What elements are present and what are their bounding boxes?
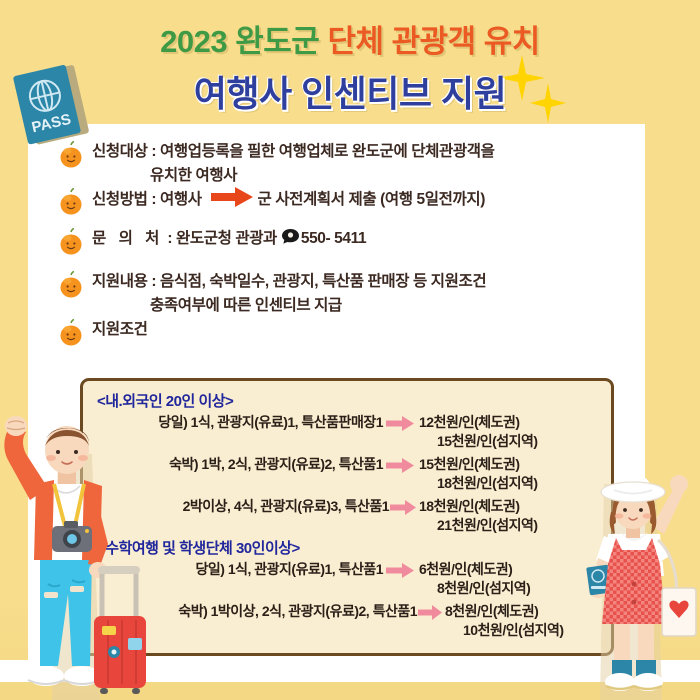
info-sep: : xyxy=(147,273,160,290)
condition-row: 당일) 1식, 관광지(유료)1, 특산품판매장1 12천원/인(체도권) 15… xyxy=(83,413,611,451)
info-row-text: 지원내용 : 음식점, 숙박일수, 관광지, 특산품 판매장 등 지원조건 충족… xyxy=(92,270,486,317)
condition-box: <내.외국인 20인 이상> 당일) 1식, 관광지(유료)1, 특산품판매장1… xyxy=(80,378,614,656)
info-row-text: 신청방법 : 여행사 군 사전계획서 제출 (여행 5일전까지) xyxy=(92,187,485,215)
info-sep: : xyxy=(163,230,176,247)
male-traveler-illustration xyxy=(0,414,146,700)
orange-smiley-icon xyxy=(56,319,86,349)
info-sep: : xyxy=(147,143,160,160)
title-line-1: 2023 완도군 단체 관광객 유치 xyxy=(0,22,700,61)
info-row-support-conditions: 지원조건 xyxy=(56,318,656,349)
poster-title: 2023 완도군 단체 관광객 유치 여행사 인센티브 지원 xyxy=(0,22,700,117)
title-line-2: 여행사 인센티브 지원 xyxy=(194,65,507,117)
orange-smiley-icon xyxy=(56,228,86,258)
info-label: 신청대상 xyxy=(92,143,147,160)
info-row-text: 신청대상 : 여행업등록을 필한 여행업체로 완도군에 단체관광객을 유치한 여… xyxy=(92,140,494,187)
condition-amount-1: 8천원/인(체도권) xyxy=(445,602,564,621)
condition-row: 2박이상, 4식, 관광지(유료)3, 특산품1 18천원/인(체도권) 21천… xyxy=(83,497,611,535)
info-row-application-target: 신청대상 : 여행업등록을 필한 여행업체로 완도군에 단체관광객을 유치한 여… xyxy=(56,140,656,187)
info-row-text: 지원조건 xyxy=(92,318,147,342)
condition-group-heading: <내.외국인 20인 이상> xyxy=(83,390,611,411)
arrow-right-icon xyxy=(383,413,417,431)
info-row-application-method: 신청방법 : 여행사 군 사전계획서 제출 (여행 5일전까지) xyxy=(56,187,656,218)
condition-row-right: 6천원/인(체도권) 8천원/인(섬지역) xyxy=(417,560,530,598)
title-part-red: 단체 관광객 유치 xyxy=(327,24,539,59)
condition-amount-2: 10천원/인(섬지역) xyxy=(445,621,564,640)
info-text: 여행업등록을 필한 여행업체로 완도군에 단체관광객을 xyxy=(160,143,494,160)
info-text-before-arrow: 여행사 xyxy=(160,191,202,208)
info-text-after-arrow: 군 사전계획서 제출 (여행 5일전까지) xyxy=(258,191,485,208)
info-row-text: 문 의 처 : 완도군청 관광과 550- 5411 xyxy=(92,227,366,253)
info-text: 완도군청 관광과 xyxy=(176,230,277,247)
sparkle-icon-2 xyxy=(530,83,566,123)
condition-amount-1: 15천원/인(체도권) xyxy=(419,455,538,474)
info-list: 신청대상 : 여행업등록을 필한 여행업체로 완도군에 단체관광객을 유치한 여… xyxy=(56,140,656,351)
info-sep: : xyxy=(147,191,160,208)
contact-phone[interactable]: 550- 5411 xyxy=(301,230,366,247)
condition-amount-2: 15천원/인(섬지역) xyxy=(419,432,538,451)
info-text: 음식점, 숙박일수, 관광지, 특산품 판매장 등 지원조건 xyxy=(160,273,486,290)
info-label: 지원내용 xyxy=(92,273,147,290)
arrow-right-icon xyxy=(417,602,443,620)
condition-group-heading: <수학여행 및 학생단체 30인이상> xyxy=(83,537,611,558)
condition-amount-2: 21천원/인(섬지역) xyxy=(419,516,538,535)
info-row-support-content: 지원내용 : 음식점, 숙박일수, 관광지, 특산품 판매장 등 지원조건 충족… xyxy=(56,270,656,317)
condition-amount-2: 18천원/인(섬지역) xyxy=(419,474,538,493)
arrow-right-icon xyxy=(211,187,253,215)
condition-row-right: 12천원/인(체도권) 15천원/인(섬지역) xyxy=(417,413,538,451)
condition-amount-1: 18천원/인(체도권) xyxy=(419,497,538,516)
condition-row-right: 18천원/인(체도권) 21천원/인(섬지역) xyxy=(417,497,538,535)
passport-icon: PASS xyxy=(6,56,102,152)
orange-smiley-icon xyxy=(56,188,86,218)
condition-amount-2: 8천원/인(섬지역) xyxy=(419,579,530,598)
condition-amount-1: 12천원/인(체도권) xyxy=(419,413,538,432)
arrow-right-icon xyxy=(383,455,417,473)
poster-root: PASS 2023 완도군 단체 관광객 유치 여행사 인센티브 지원 xyxy=(0,0,700,700)
title-part-green: 2023 완도군 xyxy=(160,24,319,59)
arrow-right-icon xyxy=(383,560,417,578)
condition-row-right: 15천원/인(체도권) 18천원/인(섬지역) xyxy=(417,455,538,493)
arrow-right-icon xyxy=(389,497,417,515)
info-label: 문 의 처 xyxy=(92,230,163,247)
female-traveler-illustration xyxy=(578,468,700,700)
orange-smiley-icon xyxy=(56,141,86,171)
condition-row-right: 8천원/인(체도권) 10천원/인(섬지역) xyxy=(443,602,564,640)
condition-row: 당일) 1식, 관광지(유료)1, 특산품1 6천원/인(체도권) 8천원/인(… xyxy=(83,560,611,598)
info-row-contact: 문 의 처 : 완도군청 관광과 550- 5411 xyxy=(56,227,656,258)
condition-amount-1: 6천원/인(체도권) xyxy=(419,560,530,579)
info-text-line2: 충족여부에 따른 인센티브 지급 xyxy=(92,294,486,318)
condition-row: 숙박) 1박이상, 2식, 관광지(유료)2, 특산품1 8천원/인(체도권) … xyxy=(83,602,611,640)
condition-row: 숙박) 1박, 2식, 관광지(유료)2, 특산품1 15천원/인(체도권) 1… xyxy=(83,455,611,493)
info-text-line2: 유치한 여행사 xyxy=(92,164,494,188)
orange-smiley-icon xyxy=(56,271,86,301)
info-label: 지원조건 xyxy=(92,321,147,338)
telephone-icon xyxy=(281,228,300,253)
info-label: 신청방법 xyxy=(92,191,147,208)
